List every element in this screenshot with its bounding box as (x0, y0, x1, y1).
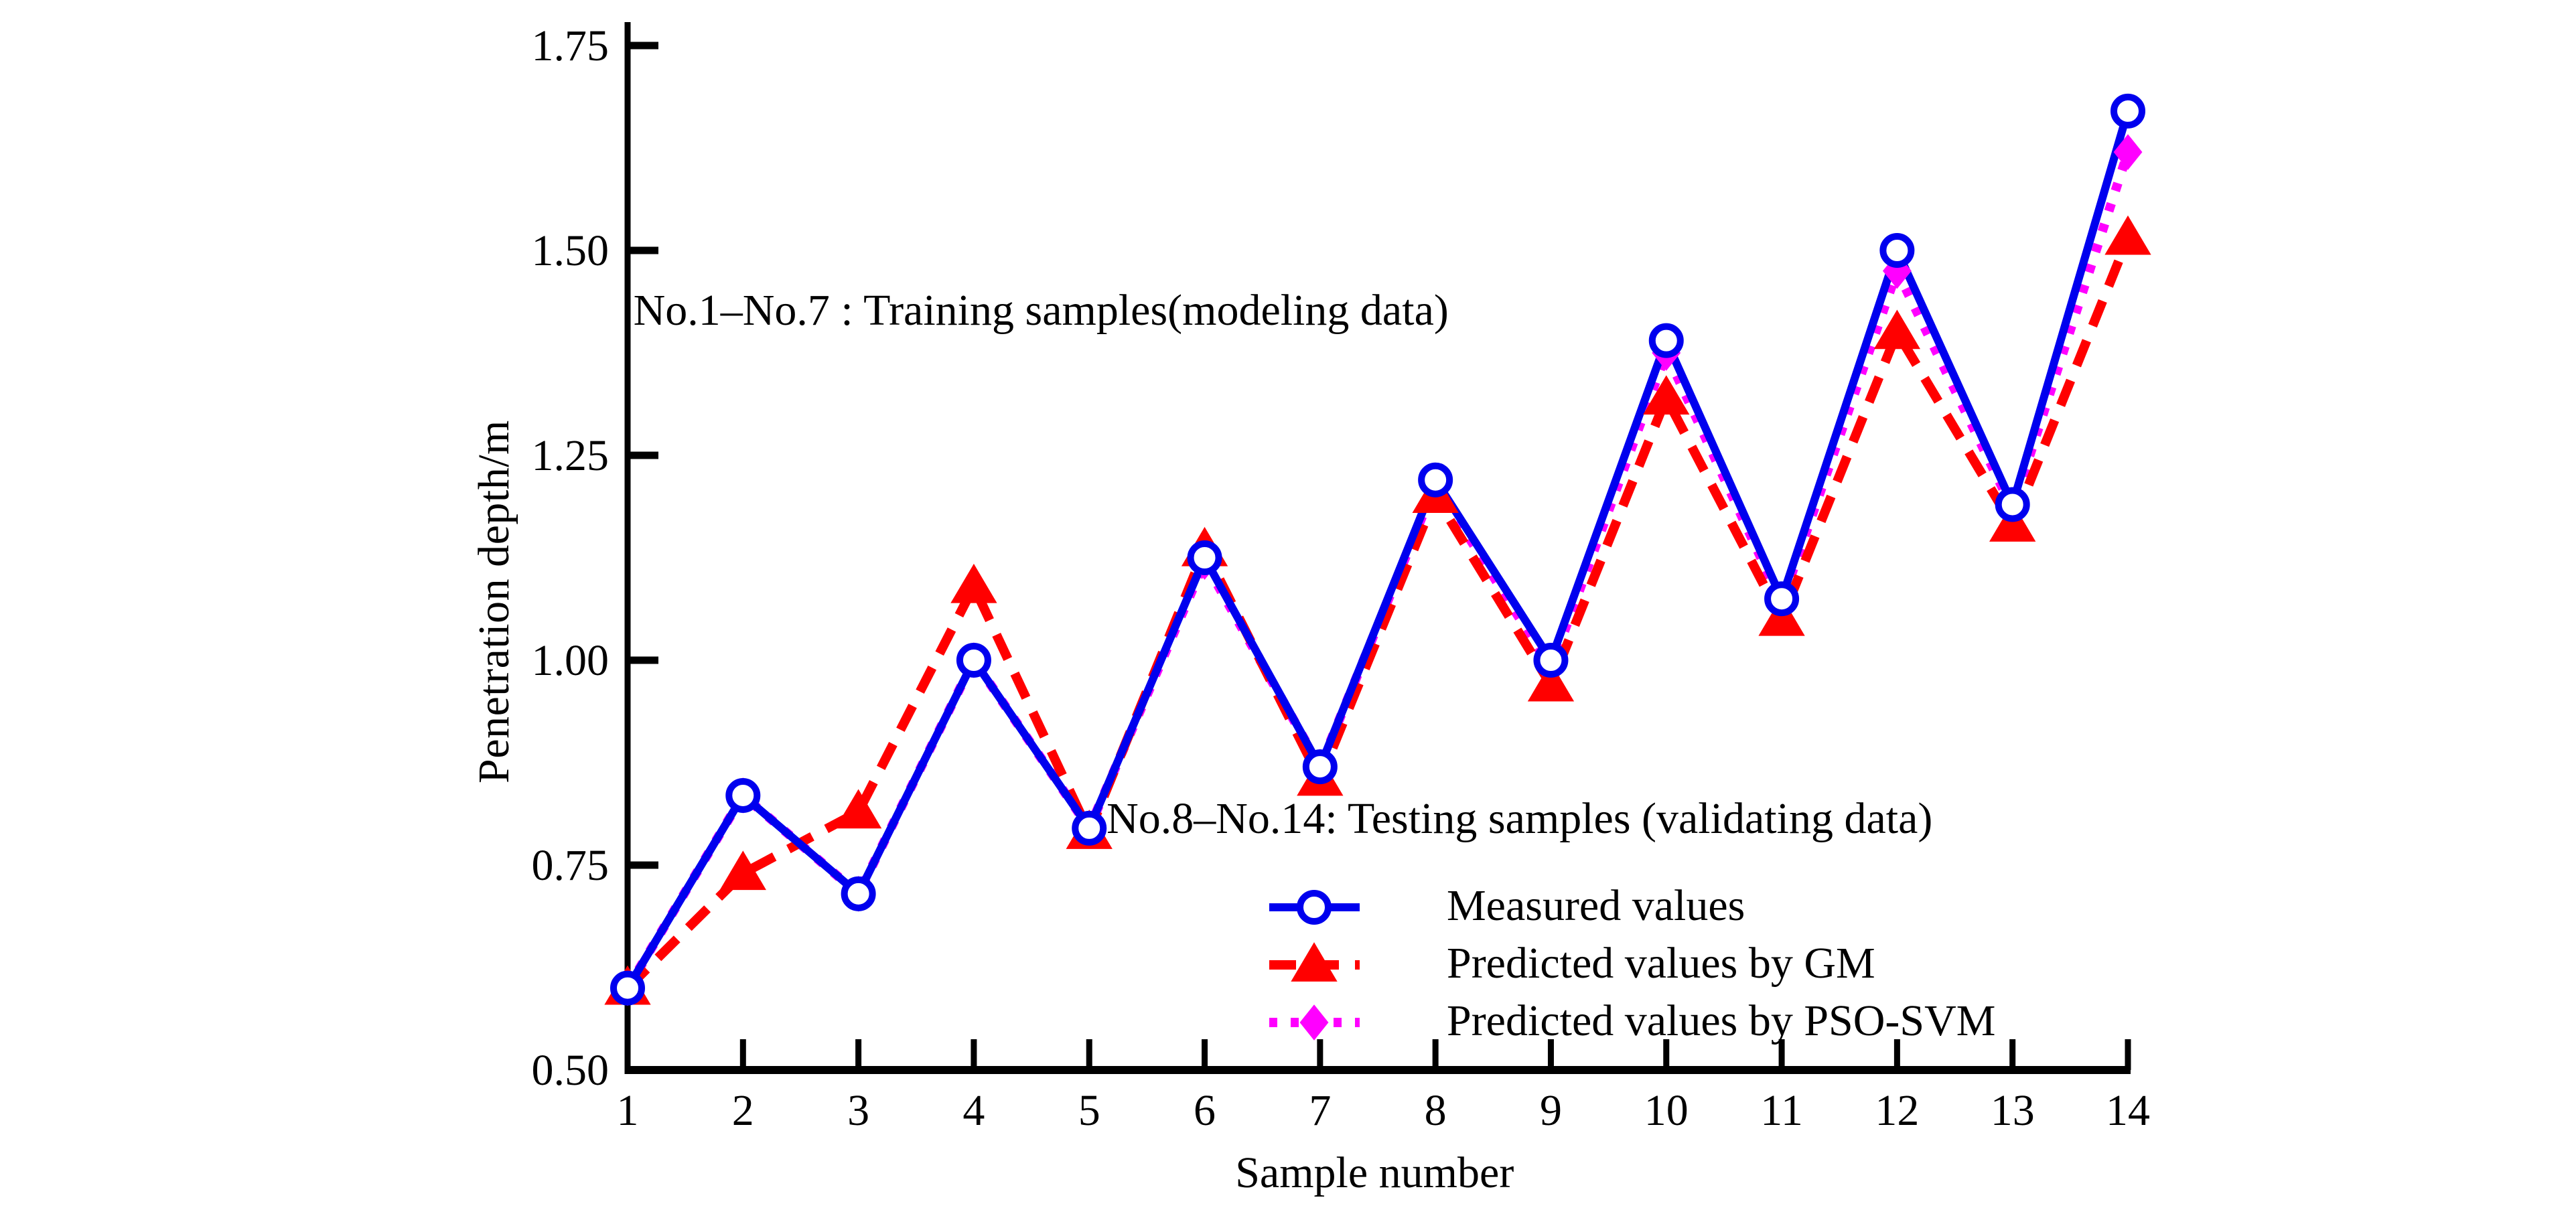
x-axis-tick-label: 10 (1644, 1086, 1689, 1135)
x-axis-tick-label: 1 (617, 1086, 639, 1135)
x-axis-tick-label: 4 (962, 1086, 985, 1135)
data-point-marker-circle (1191, 544, 1219, 572)
data-point-marker-circle (960, 646, 988, 674)
y-axis-tick-label: 1.00 (532, 636, 610, 685)
data-point-marker-circle (1768, 585, 1796, 613)
data-point-marker-circle (1300, 893, 1328, 921)
x-axis-tick-label: 8 (1425, 1086, 1447, 1135)
x-axis-tick-label: 9 (1540, 1086, 1562, 1135)
data-point-marker-circle (1999, 490, 2027, 518)
x-axis-tick-label: 13 (1991, 1086, 2035, 1135)
data-point-marker-circle (2114, 97, 2142, 125)
y-axis-tick-label: 1.50 (532, 226, 610, 275)
data-point-marker-triangle (954, 568, 994, 601)
x-axis-tick-label: 14 (2106, 1086, 2150, 1135)
x-axis-tick-label: 7 (1309, 1086, 1331, 1135)
x-axis-tick-label: 2 (732, 1086, 754, 1135)
chart-root: Penetration depth/m Sample number No.1–N… (0, 0, 2576, 1218)
data-point-marker-circle (1421, 466, 1449, 494)
data-point-marker-circle (614, 974, 642, 1002)
x-axis-tick-label: 3 (847, 1086, 869, 1135)
data-point-marker-triangle (1877, 313, 1917, 347)
y-axis-tick-label: 0.50 (532, 1046, 610, 1095)
data-point-marker-circle (845, 880, 873, 908)
y-axis-tick-label: 0.75 (532, 841, 610, 890)
x-axis-tick-label: 12 (1875, 1086, 1919, 1135)
x-axis-tick-label: 6 (1194, 1086, 1216, 1135)
data-point-marker-circle (1306, 753, 1334, 781)
chart-canvas: 0.500.751.001.251.501.751234567891011121… (0, 0, 2576, 1218)
data-point-marker-circle (1536, 646, 1565, 674)
data-point-marker-circle (1652, 327, 1680, 355)
data-point-marker-triangle (2108, 220, 2148, 253)
y-axis-tick-label: 1.75 (532, 21, 610, 70)
x-axis-tick-label: 11 (1760, 1086, 1803, 1135)
data-point-marker-diamond (1302, 1008, 1326, 1037)
data-point-marker-circle (1075, 814, 1103, 842)
data-point-marker-circle (729, 781, 757, 810)
y-axis-tick-label: 1.25 (532, 431, 610, 480)
x-axis-tick-label: 5 (1078, 1086, 1100, 1135)
data-point-marker-triangle (839, 793, 878, 826)
data-point-marker-circle (1883, 236, 1911, 264)
